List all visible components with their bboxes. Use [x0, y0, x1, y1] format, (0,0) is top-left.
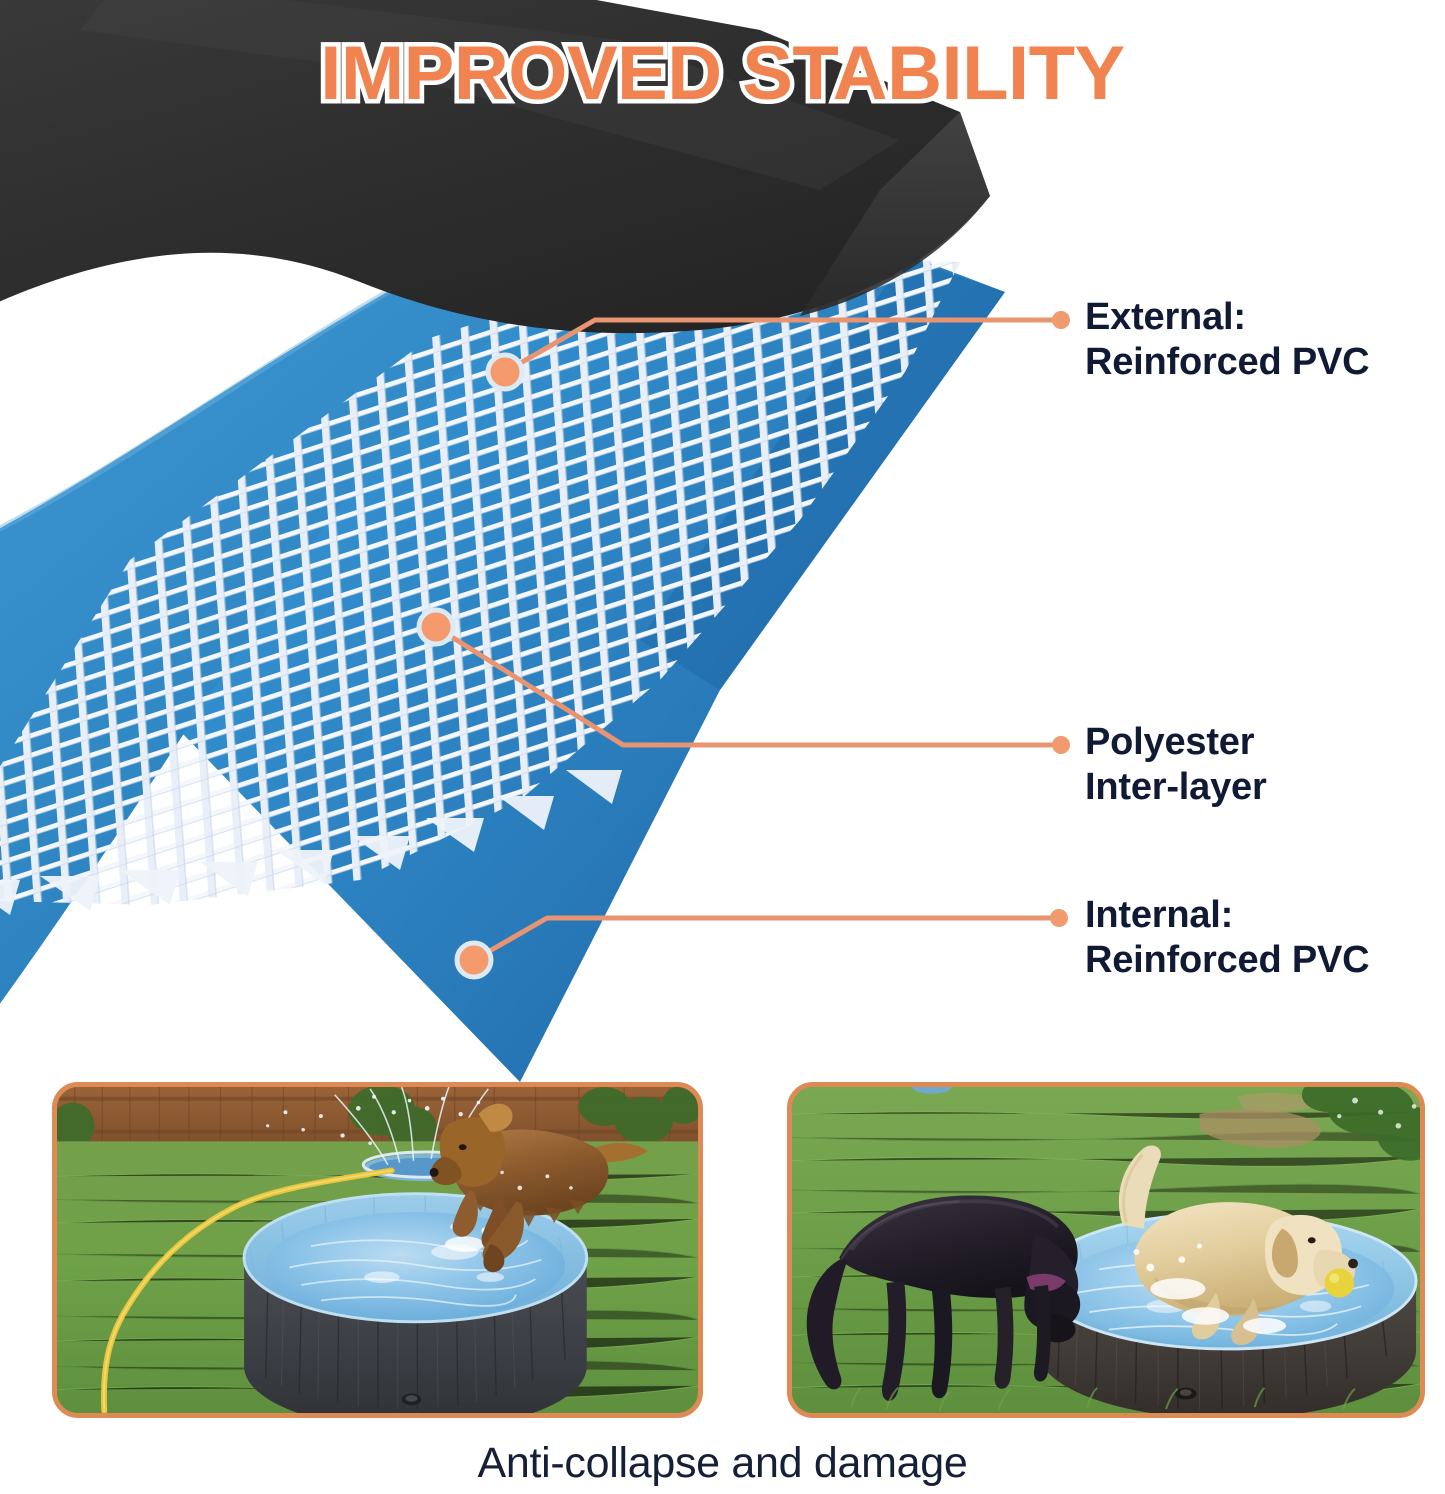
product-photo-row	[0, 1080, 1445, 1420]
callout-label-polyester: Polyester Inter-layer	[1085, 720, 1267, 810]
photo-left-image	[57, 1087, 698, 1413]
callout-endpoint-dots	[1050, 311, 1070, 927]
callout-label-external: External: Reinforced PVC	[1085, 295, 1369, 385]
callout-label-internal: Internal: Reinforced PVC	[1085, 893, 1369, 983]
photo-right-image	[792, 1087, 1420, 1413]
infographic-root: IMPROVED STABILITY External: Reinforced …	[0, 0, 1445, 1494]
product-photo-left	[52, 1082, 703, 1418]
page-title: IMPROVED STABILITY	[0, 36, 1445, 112]
bottom-caption: Anti-collapse and damage	[0, 1437, 1445, 1489]
product-photo-right	[787, 1082, 1425, 1418]
